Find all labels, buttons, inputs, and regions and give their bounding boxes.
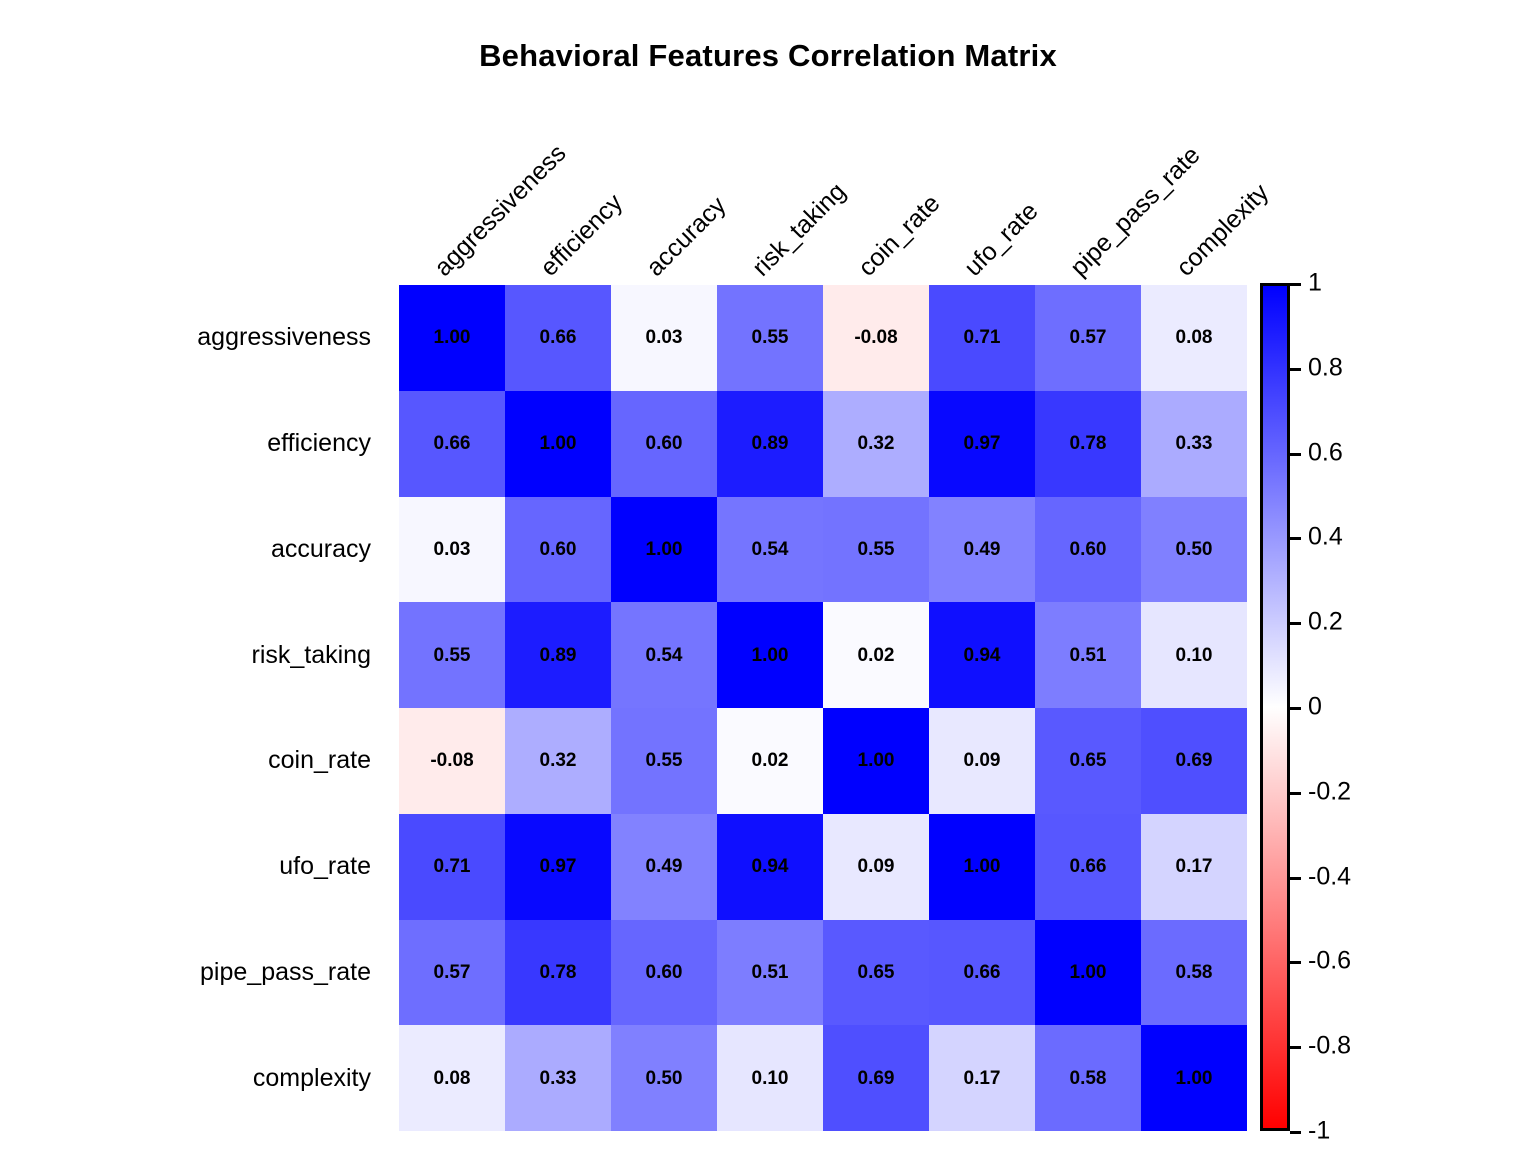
heatmap-cell-value: 0.71	[964, 328, 1001, 347]
y-axis-tick-label: accuracy	[40, 497, 385, 603]
heatmap-cell-value: 0.49	[646, 857, 683, 876]
y-axis-tick-label: aggressiveness	[40, 285, 385, 391]
heatmap-cell-value: 1.00	[646, 540, 683, 559]
heatmap-cell: 0.49	[929, 497, 1035, 603]
heatmap-cell: 1.00	[505, 391, 611, 497]
colorbar-tick-label: -0.6	[1308, 949, 1351, 974]
heatmap-cell-value: 0.94	[752, 857, 789, 876]
heatmap-cell: 0.58	[1035, 1025, 1141, 1131]
heatmap-cell: 0.03	[399, 497, 505, 603]
heatmap-cell-value: 0.02	[858, 646, 895, 665]
heatmap-cell-value: 0.69	[858, 1069, 895, 1088]
heatmap-cell: 0.55	[823, 497, 929, 603]
heatmap-cell: 0.65	[823, 920, 929, 1026]
colorbar-tick-mark	[1290, 707, 1301, 710]
heatmap-cell: 0.60	[1035, 497, 1141, 603]
heatmap-cell: 0.66	[505, 285, 611, 391]
heatmap-cell: 0.51	[717, 920, 823, 1026]
y-axis-tick-labels: aggressivenessefficiencyaccuracyrisk_tak…	[40, 285, 385, 1131]
colorbar-tick-label: -0.4	[1308, 864, 1351, 889]
heatmap-cell: 0.65	[1035, 708, 1141, 814]
colorbar-tick-label: 0.2	[1308, 610, 1343, 635]
heatmap-cell-value: 0.10	[752, 1069, 789, 1088]
heatmap-cell-value: 0.78	[1070, 434, 1107, 453]
heatmap-cell-value: 0.60	[646, 434, 683, 453]
heatmap-cell-value: 0.55	[646, 751, 683, 770]
heatmap-cell: 0.66	[929, 920, 1035, 1026]
colorbar-legend: 10.80.60.40.20-0.2-0.4-0.6-0.8-1	[1260, 283, 1294, 1133]
y-axis-tick-label: efficiency	[40, 391, 385, 497]
heatmap-cell-value: 1.00	[858, 751, 895, 770]
heatmap-cell: 0.33	[505, 1025, 611, 1131]
heatmap-cell: 1.00	[399, 285, 505, 391]
x-axis-tick-label: complexity	[1172, 180, 1273, 281]
heatmap-cell: 0.78	[1035, 391, 1141, 497]
heatmap-cell: 1.00	[611, 497, 717, 603]
heatmap-cell-value: -0.08	[854, 328, 897, 347]
colorbar-tick-label: 0.6	[1308, 440, 1343, 465]
heatmap-cell-value: 1.00	[1070, 963, 1107, 982]
heatmap-cell-value: 0.58	[1070, 1069, 1107, 1088]
heatmap-cell: 0.02	[823, 602, 929, 708]
heatmap-cell-value: 0.51	[752, 963, 789, 982]
colorbar-tick-mark	[1290, 537, 1301, 540]
heatmap-cell: 0.69	[1141, 708, 1247, 814]
heatmap-cell: -0.08	[399, 708, 505, 814]
heatmap-cell-value: 0.17	[964, 1069, 1001, 1088]
heatmap-cell: 0.50	[611, 1025, 717, 1131]
colorbar-tick-mark	[1290, 961, 1301, 964]
heatmap-cell: 0.66	[1035, 814, 1141, 920]
heatmap-cell: 1.00	[1141, 1025, 1247, 1131]
x-axis-tick-label: efficiency	[536, 190, 627, 281]
colorbar-tick-label: 1	[1308, 271, 1322, 296]
heatmap-cell: 0.49	[611, 814, 717, 920]
heatmap-cell-value: 0.69	[1176, 751, 1213, 770]
heatmap-cell: 0.09	[929, 708, 1035, 814]
heatmap-cell: 0.97	[929, 391, 1035, 497]
heatmap-cell-value: 0.08	[1176, 328, 1213, 347]
colorbar-tick-label: 0	[1308, 695, 1322, 720]
colorbar-tick-label: -0.2	[1308, 779, 1351, 804]
heatmap-cell-value: 1.00	[540, 434, 577, 453]
heatmap-cell: 0.50	[1141, 497, 1247, 603]
x-axis-tick-label: coin_rate	[854, 191, 944, 281]
heatmap-cell-value: 0.78	[540, 963, 577, 982]
heatmap-cell: 0.60	[611, 391, 717, 497]
heatmap-cell: 0.10	[717, 1025, 823, 1131]
heatmap-cell-value: 0.32	[540, 751, 577, 770]
heatmap-cell-value: 0.33	[540, 1069, 577, 1088]
heatmap-cell-value: 0.03	[646, 328, 683, 347]
y-axis-tick-label: ufo_rate	[40, 814, 385, 920]
colorbar-tick-mark	[1290, 1131, 1301, 1134]
page-title: Behavioral Features Correlation Matrix	[0, 38, 1536, 74]
heatmap-cell: -0.08	[823, 285, 929, 391]
heatmap-cell: 0.89	[505, 602, 611, 708]
heatmap-cell-value: 0.89	[752, 434, 789, 453]
heatmap-cell-value: 1.00	[434, 328, 471, 347]
colorbar-tick-label: 0.4	[1308, 525, 1343, 550]
heatmap-cell: 0.54	[717, 497, 823, 603]
heatmap-cell-value: 0.65	[858, 963, 895, 982]
heatmap-cell-value: 0.60	[1070, 540, 1107, 559]
heatmap-cell-value: 0.60	[646, 963, 683, 982]
heatmap-cell-value: 0.49	[964, 540, 1001, 559]
heatmap-cell-value: 0.55	[434, 646, 471, 665]
heatmap-cell: 0.08	[1141, 285, 1247, 391]
heatmap-cell: 0.94	[717, 814, 823, 920]
heatmap-cell-value: 0.94	[964, 646, 1001, 665]
heatmap-cell-value: 0.66	[964, 963, 1001, 982]
colorbar-tick-label: -0.8	[1308, 1034, 1351, 1059]
heatmap-cell: 0.66	[399, 391, 505, 497]
heatmap-cell: 0.32	[505, 708, 611, 814]
y-axis-tick-label: coin_rate	[40, 708, 385, 814]
heatmap-cell: 0.17	[1141, 814, 1247, 920]
heatmap-cell: 0.33	[1141, 391, 1247, 497]
heatmap-cell: 1.00	[823, 708, 929, 814]
heatmap-cell: 0.60	[611, 920, 717, 1026]
heatmap-cell: 0.57	[399, 920, 505, 1026]
colorbar-tick-label: 0.8	[1308, 355, 1343, 380]
heatmap-cell: 0.55	[611, 708, 717, 814]
heatmap-cell-value: 0.09	[964, 751, 1001, 770]
heatmap-cell-value: 0.57	[434, 963, 471, 982]
heatmap-cell: 0.17	[929, 1025, 1035, 1131]
x-axis-tick-label: ufo_rate	[960, 198, 1043, 281]
heatmap-cell-value: 0.03	[434, 540, 471, 559]
heatmap-cell-value: 0.51	[1070, 646, 1107, 665]
heatmap-cell: 1.00	[929, 814, 1035, 920]
heatmap-cell-value: 0.71	[434, 857, 471, 876]
heatmap-cell-value: 0.57	[1070, 328, 1107, 347]
heatmap-cell-value: 0.10	[1176, 646, 1213, 665]
heatmap-cell-value: 0.08	[434, 1069, 471, 1088]
colorbar-tick-mark	[1290, 792, 1301, 795]
heatmap-cell: 0.10	[1141, 602, 1247, 708]
heatmap-cell: 0.71	[399, 814, 505, 920]
heatmap-cell: 0.89	[717, 391, 823, 497]
heatmap-cell-value: 0.89	[540, 646, 577, 665]
y-axis-tick-label: pipe_pass_rate	[40, 920, 385, 1026]
colorbar-tick-label: -1	[1308, 1119, 1330, 1144]
heatmap-cell: 0.57	[1035, 285, 1141, 391]
heatmap-cell-value: 0.55	[752, 328, 789, 347]
heatmap-cell-value: 0.54	[752, 540, 789, 559]
heatmap-cell: 0.71	[929, 285, 1035, 391]
heatmap-cell: 0.55	[717, 285, 823, 391]
heatmap-cell-value: 0.09	[858, 857, 895, 876]
heatmap-cell: 0.08	[399, 1025, 505, 1131]
heatmap-cell: 1.00	[717, 602, 823, 708]
heatmap-cell-value: 1.00	[964, 857, 1001, 876]
heatmap-cell: 0.97	[505, 814, 611, 920]
heatmap-cell: 0.60	[505, 497, 611, 603]
x-axis-tick-label: accuracy	[642, 193, 730, 281]
heatmap-cell-value: 1.00	[1176, 1069, 1213, 1088]
heatmap-cell-value: 0.66	[1070, 857, 1107, 876]
heatmap-cell-value: 0.17	[1176, 857, 1213, 876]
heatmap-cell-value: 0.33	[1176, 434, 1213, 453]
heatmap-cell: 0.51	[1035, 602, 1141, 708]
heatmap-cell-value: 1.00	[752, 646, 789, 665]
heatmap-cell: 0.94	[929, 602, 1035, 708]
colorbar-tick-mark	[1290, 368, 1301, 371]
heatmap-cell-value: 0.97	[964, 434, 1001, 453]
correlation-heatmap-figure: Behavioral Features Correlation Matrix a…	[0, 0, 1536, 1152]
heatmap-cell: 0.32	[823, 391, 929, 497]
heatmap-cell-value: 0.66	[540, 328, 577, 347]
heatmap-cell-value: 0.54	[646, 646, 683, 665]
colorbar-tick-mark	[1290, 1046, 1301, 1049]
heatmap-cell: 0.03	[611, 285, 717, 391]
heatmap-cell: 0.58	[1141, 920, 1247, 1026]
heatmap-cell: 0.69	[823, 1025, 929, 1131]
colorbar-tick-mark	[1290, 877, 1301, 880]
heatmap-cell-value: 0.32	[858, 434, 895, 453]
colorbar-tick-mark	[1290, 453, 1301, 456]
x-axis-tick-label: risk_taking	[748, 179, 850, 281]
heatmap-cell-value: 0.02	[752, 751, 789, 770]
heatmap-cell-value: 0.50	[646, 1069, 683, 1088]
heatmap-cell: 0.54	[611, 602, 717, 708]
y-axis-tick-label: complexity	[40, 1025, 385, 1131]
heatmap-cell-value: 0.58	[1176, 963, 1213, 982]
heatmap-cell-value: 0.50	[1176, 540, 1213, 559]
heatmap-cell-value: 0.60	[540, 540, 577, 559]
heatmap-cell-value: 0.66	[434, 434, 471, 453]
heatmap-cell-value: 0.55	[858, 540, 895, 559]
heatmap-cell: 0.55	[399, 602, 505, 708]
colorbar-tick-mark	[1290, 622, 1301, 625]
heatmap-cell: 0.02	[717, 708, 823, 814]
heatmap-cell-value: -0.08	[430, 751, 473, 770]
heatmap-cell-value: 0.65	[1070, 751, 1107, 770]
heatmap-cell: 1.00	[1035, 920, 1141, 1026]
y-axis-tick-label: risk_taking	[40, 602, 385, 708]
colorbar-tick-mark	[1290, 283, 1301, 286]
heatmap-cell: 0.09	[823, 814, 929, 920]
heatmap-matrix: 1.000.660.030.55-0.080.710.570.080.661.0…	[399, 285, 1247, 1131]
colorbar-gradient	[1260, 283, 1290, 1131]
heatmap-cell: 0.78	[505, 920, 611, 1026]
heatmap-cell-value: 0.97	[540, 857, 577, 876]
